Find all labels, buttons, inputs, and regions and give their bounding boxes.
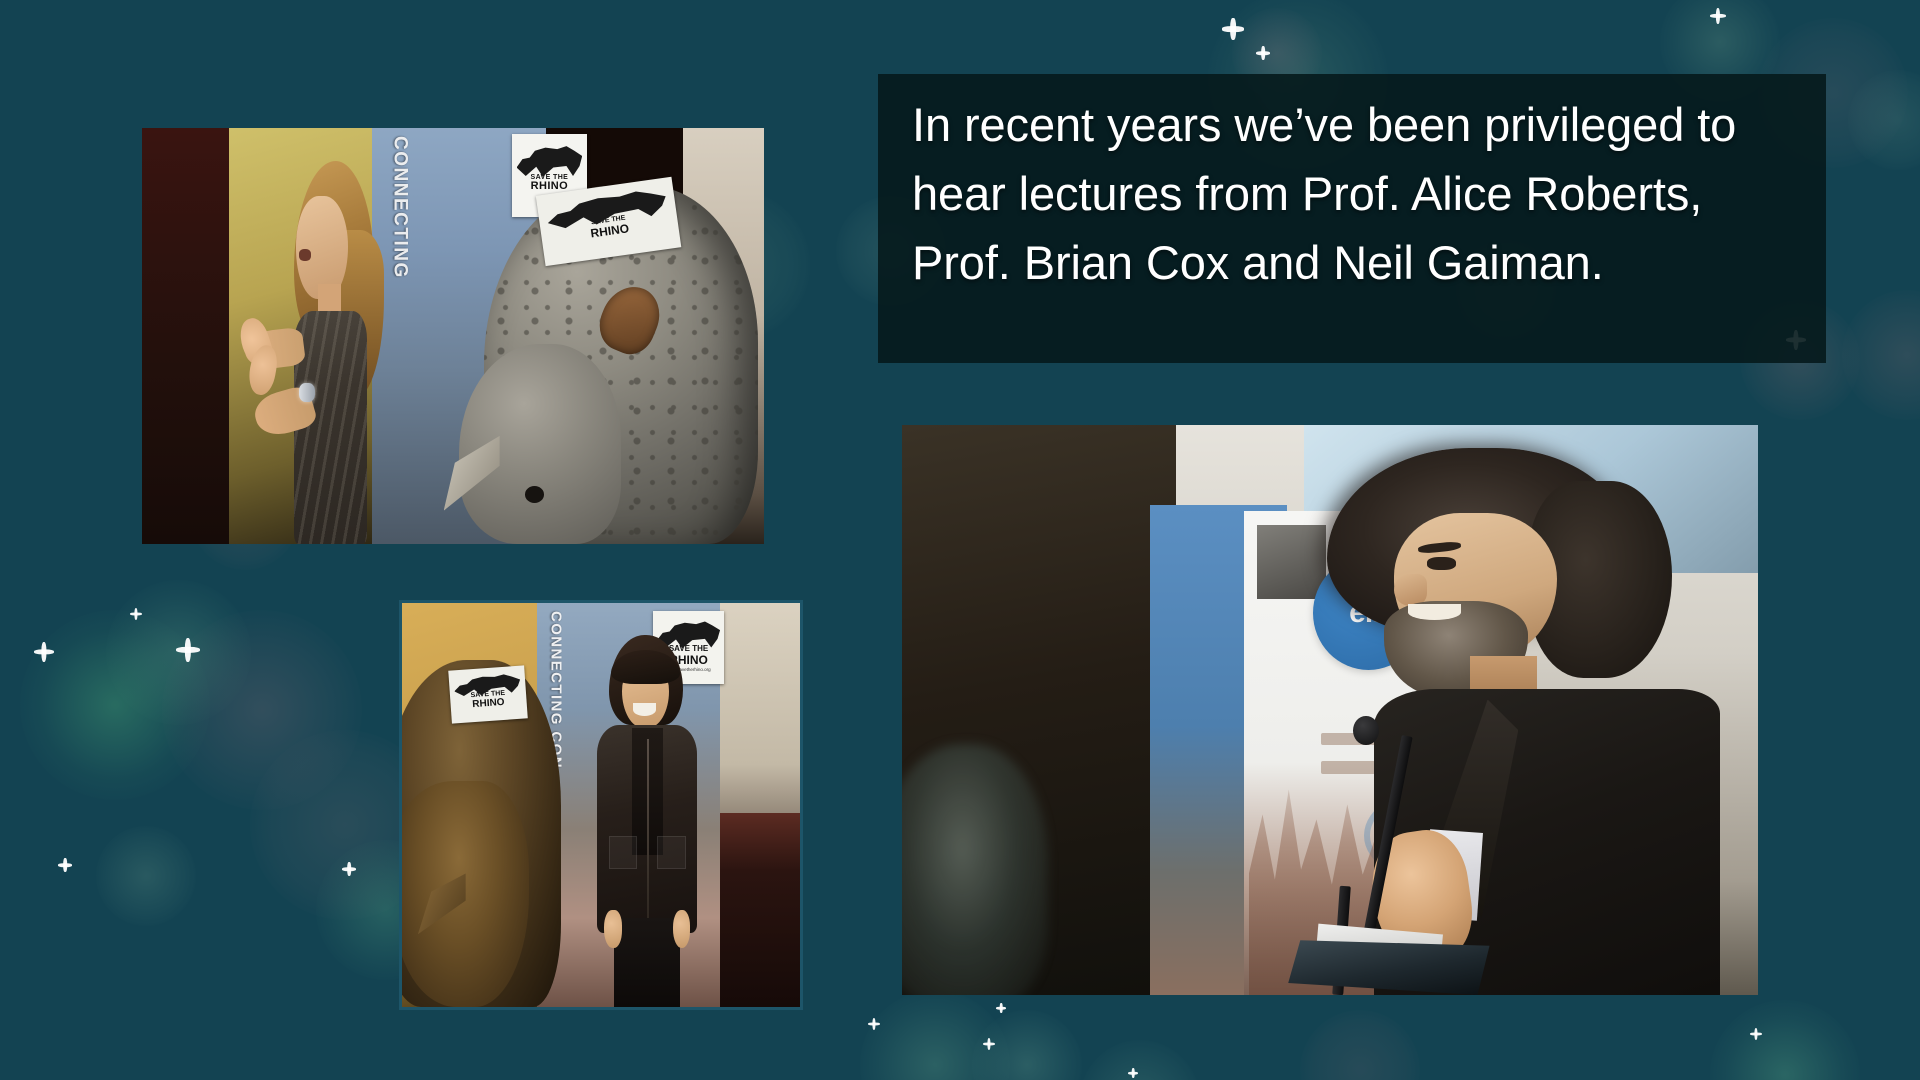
quote-text-box: In recent years we’ve been privileged to… — [878, 74, 1826, 363]
photo2-speaker-hand-left — [604, 910, 621, 947]
sparkle-icon — [868, 1018, 880, 1030]
photo3-speaker-mouth — [1408, 604, 1461, 619]
sparkle-icon — [1256, 46, 1270, 60]
photo1-logo-bottom-line: RHINO — [531, 181, 568, 193]
rhino-icon — [517, 139, 583, 177]
sparkle-icon — [1222, 18, 1244, 40]
bokeh-circle — [106, 580, 251, 725]
photo-brian-cox: CONNECTING CON SAVE THE RHINO www.saveth… — [399, 600, 803, 1010]
bokeh-circle — [972, 1010, 1082, 1080]
photo2-speaker-hand-right — [673, 910, 690, 947]
photo1-rhino-costume-head — [459, 344, 621, 544]
photo3-speaker-neil-gaiman — [1279, 448, 1758, 995]
photo-alice-roberts: CONNECTING SAVE THE RHINO SAVE THE RHINO — [142, 128, 764, 544]
photo-neil-gaiman: eia — [902, 425, 1758, 995]
photo1-speaker-alice-roberts — [242, 161, 416, 544]
bokeh-circle — [162, 610, 362, 810]
bokeh-circle — [860, 990, 1010, 1080]
photo2-cap-bottom-line: RHINO — [472, 696, 505, 709]
photo2-speaker-brian-cox — [577, 635, 720, 1007]
sparkle-icon — [1710, 8, 1726, 24]
sparkle-icon — [342, 862, 356, 876]
bokeh-circle — [1080, 1040, 1200, 1080]
photo2-jacket-pocket-right — [657, 836, 686, 869]
photo1-stage-wall-left — [142, 128, 242, 544]
sparkle-icon — [176, 638, 200, 662]
photo2-jacket-pocket-left — [609, 836, 638, 869]
photo3-blurred-rhino — [902, 744, 1048, 995]
bokeh-circle — [1710, 1000, 1860, 1080]
photo3-podium — [1288, 940, 1489, 995]
microphone-icon — [1353, 716, 1379, 746]
photo3-speaker-eye — [1427, 557, 1456, 570]
sparkle-icon — [130, 608, 142, 620]
photo2-rhino-cap-logo: SAVE THE RHINO — [448, 665, 527, 723]
bokeh-circle — [96, 826, 196, 926]
photo2-jacket-zip — [647, 739, 649, 925]
photo2-speaker-jeans — [614, 918, 680, 1007]
bokeh-circle — [1842, 290, 1920, 420]
slide-canvas: CONNECTING SAVE THE RHINO SAVE THE RHINO — [0, 0, 1920, 1080]
bokeh-circle — [1300, 1010, 1420, 1080]
photo2-speaker-smile — [633, 703, 656, 716]
sparkle-icon — [996, 1003, 1006, 1013]
bokeh-circle — [1848, 70, 1920, 170]
photo2-desk — [720, 813, 800, 1007]
quote-text: In recent years we’ve been privileged to… — [912, 90, 1792, 297]
photo1-speaker-bracelet — [299, 383, 315, 402]
photo1-speaker-mouth — [299, 249, 311, 260]
bokeh-circle — [20, 610, 210, 800]
sparkle-icon — [983, 1038, 995, 1050]
sparkle-icon — [34, 642, 54, 662]
sparkle-icon — [1128, 1068, 1138, 1078]
sparkle-icon — [58, 858, 72, 872]
sparkle-icon — [1750, 1028, 1762, 1040]
